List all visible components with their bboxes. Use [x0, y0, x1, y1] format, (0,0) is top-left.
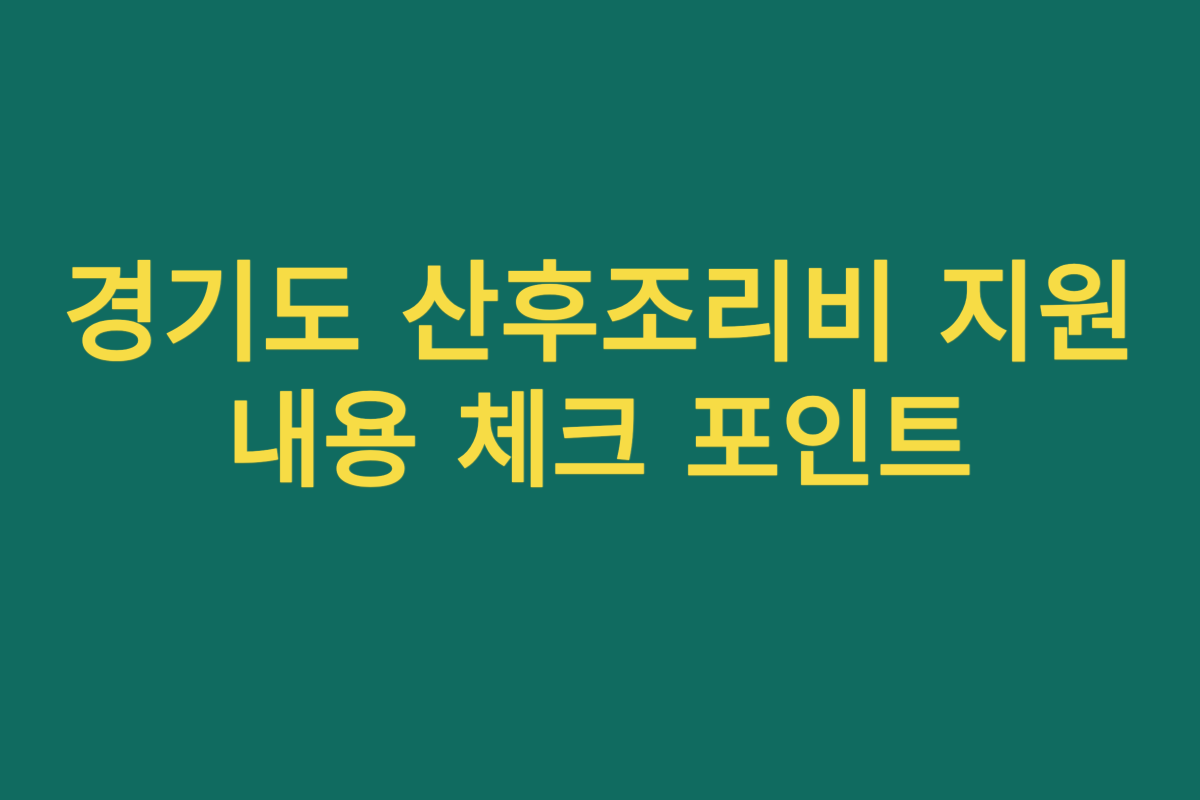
headline-block: 경기도 산후조리비 지원 내용 체크 포인트: [23, 260, 1178, 494]
headline-line-1: 경기도 산후조리비 지원: [63, 260, 1138, 370]
thumbnail-banner: 경기도 산후조리비 지원 내용 체크 포인트: [0, 0, 1200, 800]
headline-line-2: 내용 체크 포인트: [227, 388, 974, 494]
